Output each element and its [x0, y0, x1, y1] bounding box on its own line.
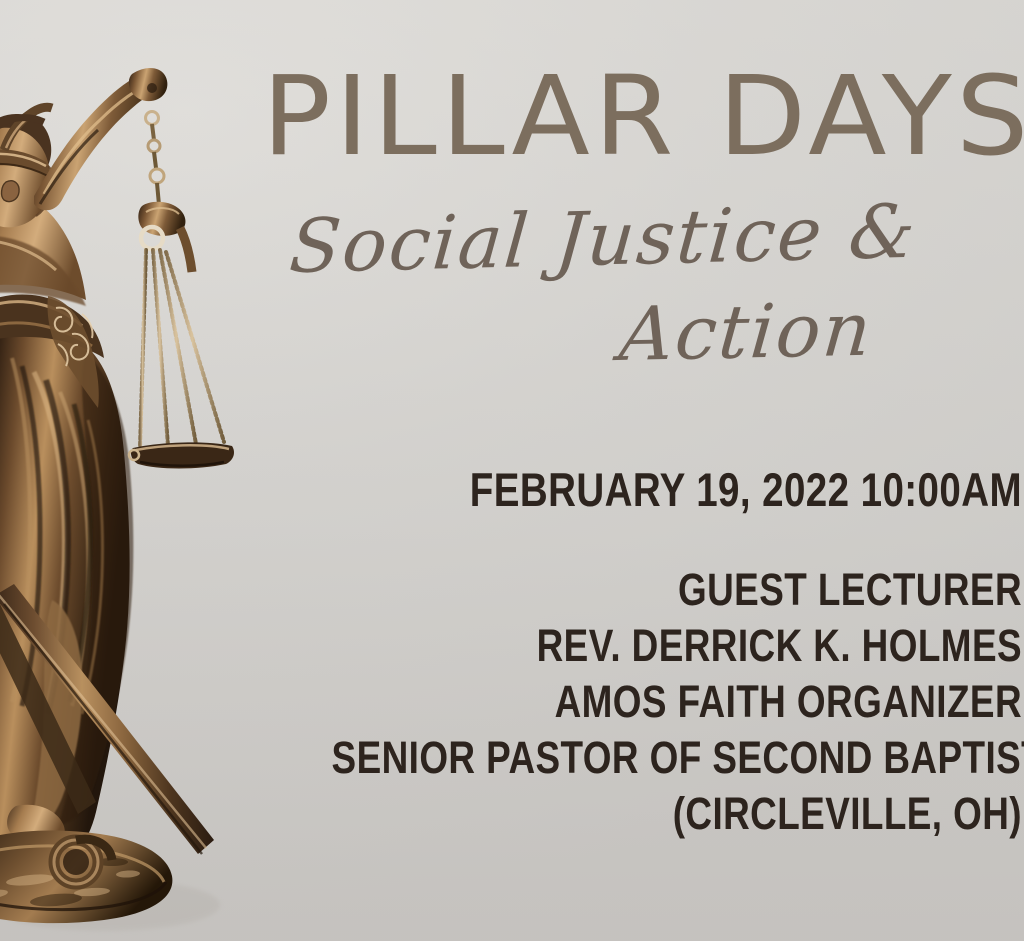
subtitle-line-2: Action: [616, 287, 876, 378]
subtitle-line-1: Social Justice &: [287, 189, 921, 291]
speaker-church: SENIOR PASTOR OF SECOND BAPTIST CHURCH: [332, 730, 1022, 786]
page-title: PILLAR DAYS: [262, 60, 1024, 172]
speaker-name: REV. DERRICK K. HOLMES: [332, 618, 1022, 674]
event-details: FEBRUARY 19, 2022 10:00AM GUEST LECTURER…: [180, 462, 1022, 842]
subtitle-script: Social Justice & Action: [290, 196, 1024, 396]
speaker-role: GUEST LECTURER: [332, 562, 1022, 618]
speaker-organization: AMOS FAITH ORGANIZER: [332, 674, 1022, 730]
speaker-location: (CIRCLEVILLE, OH): [332, 786, 1022, 842]
event-datetime: FEBRUARY 19, 2022 10:00AM: [332, 462, 1022, 518]
poster-canvas: PILLAR DAYS Social Justice & Action FEBR…: [0, 0, 1024, 941]
